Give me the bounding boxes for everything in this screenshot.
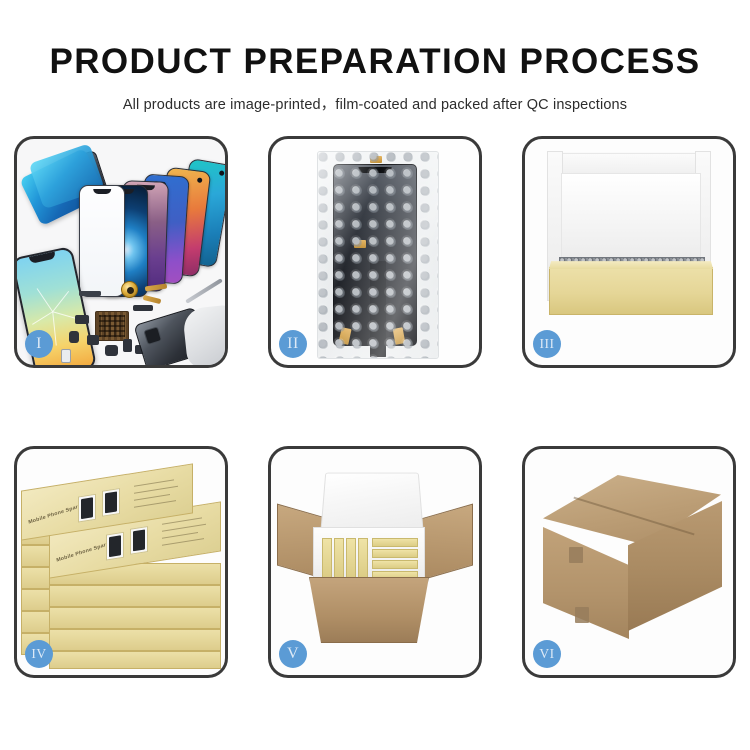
box-screen-swatch-4 — [130, 526, 148, 555]
product-preparation-page: PRODUCT PREPARATION PROCESS All products… — [0, 0, 750, 750]
packed-yellow-box-7 — [372, 560, 418, 569]
phone-screen-glass-blank — [79, 185, 125, 297]
carton-packing-illustration — [271, 449, 479, 675]
carton-tape-tab-lower — [575, 607, 589, 623]
step-badge-2: II — [279, 330, 307, 358]
retail-box-edge-9 — [49, 607, 221, 629]
component-chip-1 — [75, 315, 89, 324]
step-badge-3: III — [533, 330, 561, 358]
box-spec-line-3 — [134, 494, 170, 501]
component-chip-2 — [69, 331, 79, 343]
parts-layout-illustration — [17, 139, 225, 365]
step-panel-4: Mobile Phone Spare Parts Mobile Phone Sp… — [14, 446, 228, 678]
packed-yellow-box-2 — [334, 538, 344, 578]
component-chip-7 — [133, 305, 153, 311]
process-steps-grid: I II — [14, 136, 736, 682]
box-screen-swatch-2 — [102, 488, 120, 517]
step-badge-1: I — [25, 330, 53, 358]
step-panel-3: III — [522, 136, 736, 368]
box-screen-swatch-1 — [78, 494, 96, 523]
component-chip-5 — [123, 339, 132, 352]
step-badge-4: IV — [25, 640, 53, 668]
logic-board-component — [95, 311, 129, 341]
component-bar-1 — [79, 291, 101, 296]
packed-yellow-box-6 — [372, 549, 418, 558]
retail-box-edge-11 — [49, 651, 221, 669]
stacked-retail-boxes-illustration: Mobile Phone Spare Parts Mobile Phone Sp… — [17, 449, 225, 675]
box-spec-line-1 — [134, 479, 174, 486]
carton-tape-tab-upper — [569, 547, 583, 563]
step-panel-5: V — [268, 446, 482, 678]
step-panel-6: VI — [522, 446, 736, 678]
step-panel-1: I — [14, 136, 228, 368]
box-screen-swatch-3 — [106, 532, 124, 561]
flex-cable-2 — [143, 295, 162, 304]
retail-box-edge-10 — [49, 629, 221, 651]
component-chip-4 — [105, 345, 118, 356]
carton-flap-right — [421, 504, 473, 581]
box-spec-line-8 — [162, 538, 204, 546]
step-panel-2: II — [268, 136, 482, 368]
step-badge-5: V — [279, 640, 307, 668]
phone-screen-fan — [89, 155, 228, 295]
packed-yellow-box-5 — [372, 538, 418, 547]
gold-coil-component — [121, 281, 138, 298]
page-title: PRODUCT PREPARATION PROCESS — [0, 44, 750, 81]
foam-lined-box-illustration — [525, 139, 733, 365]
bubble-wrapped-screen-illustration — [271, 139, 479, 365]
retail-box-stack: Mobile Phone Spare Parts Mobile Phone Sp… — [19, 465, 228, 669]
page-subtitle: All products are image-printed，film-coat… — [0, 93, 750, 114]
carton-body — [309, 577, 429, 643]
box-spec-line-5 — [162, 517, 202, 524]
yellow-box-body — [549, 267, 713, 315]
component-chip-8 — [61, 349, 71, 363]
bubble-wrap-bag — [317, 151, 439, 359]
packed-yellow-box-1 — [322, 538, 332, 578]
foam-box-lid — [321, 473, 424, 531]
packed-yellow-box-3 — [346, 538, 356, 578]
box-spec-line-7 — [162, 532, 198, 539]
box-spec-line-2 — [134, 486, 178, 494]
sealed-carton-illustration — [525, 449, 733, 675]
step-badge-6: VI — [533, 640, 561, 668]
retail-box-edge-8 — [49, 585, 221, 607]
box-spec-line-4 — [134, 500, 176, 508]
box-spec-line-6 — [162, 524, 206, 532]
technician-hand — [182, 305, 228, 368]
bag-sheen — [318, 152, 438, 358]
page-header: PRODUCT PREPARATION PROCESS All products… — [0, 0, 750, 114]
component-chip-3 — [87, 335, 99, 345]
packed-yellow-box-4 — [358, 538, 368, 578]
